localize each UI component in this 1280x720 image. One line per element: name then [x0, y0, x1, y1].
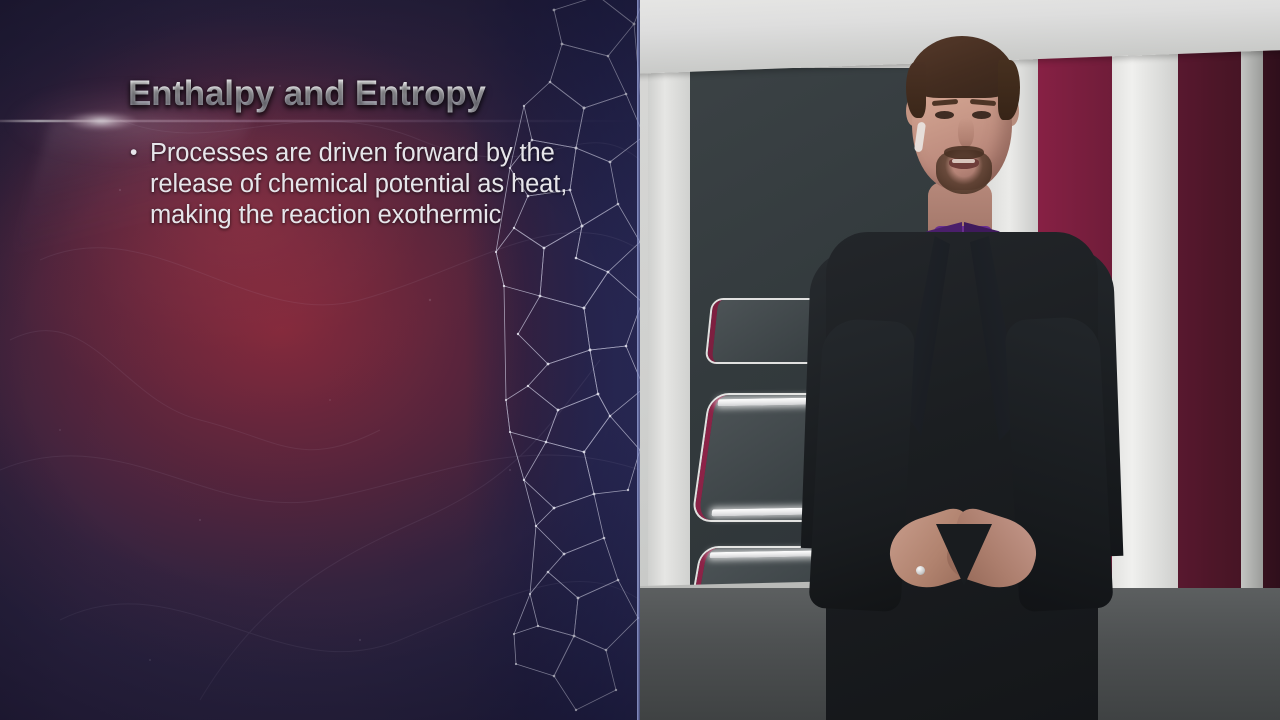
- video-frame: Enthalpy and Entropy Processes are drive…: [0, 0, 1280, 720]
- presenter-figure: [640, 0, 1280, 720]
- presenter-eye-right: [972, 111, 991, 119]
- presenter-mustache: [944, 146, 984, 159]
- slide-title: Enthalpy and Entropy: [128, 74, 486, 114]
- presenter-eye-left: [935, 111, 954, 119]
- presenter-hair-side-left: [906, 62, 926, 118]
- slide-bullet-item: Processes are driven forward by the rele…: [128, 138, 568, 231]
- presenter-video-panel: [640, 0, 1280, 720]
- slide-panel: Enthalpy and Entropy Processes are drive…: [0, 0, 640, 720]
- presenter-ring: [916, 566, 925, 575]
- slide-bullet-list: Processes are driven forward by the rele…: [128, 138, 568, 231]
- presenter-teeth: [952, 159, 975, 163]
- presenter-nose: [958, 118, 974, 148]
